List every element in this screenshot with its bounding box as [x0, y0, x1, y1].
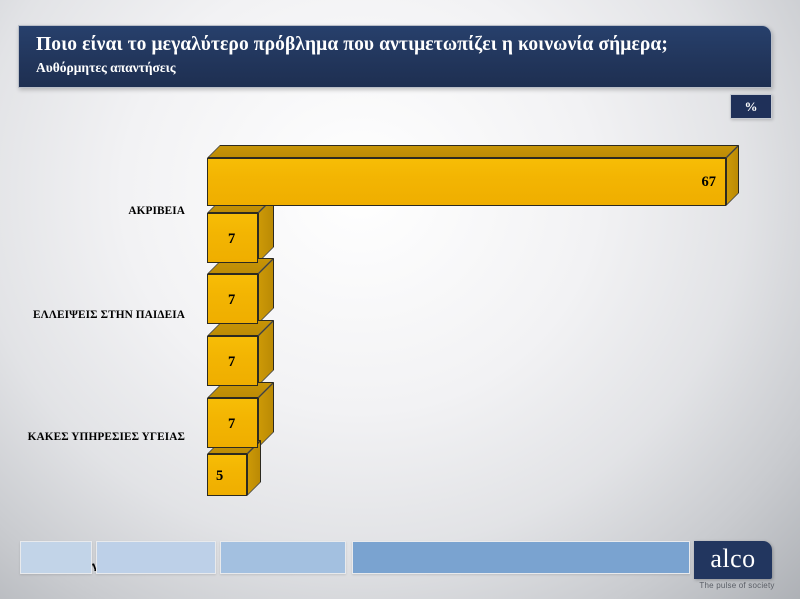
bar-front-face	[207, 158, 726, 206]
chart-row: ΕΓΚΛΗΜΑΤΙΚΟΤΗΤΑ7	[0, 336, 800, 386]
footer-bar-3	[220, 541, 346, 574]
chart-row: ΑΝΕΡΓΙΑ7	[0, 398, 800, 448]
alco-logo-wordmark: alco	[710, 546, 755, 572]
chart-row: ΕΛΛΕΙΨΕΙΣ ΣΤΗΝ ΠΑΙΔΕΙΑ7	[0, 213, 800, 263]
alco-logo-tagline: The pulse of society	[694, 581, 780, 590]
page-title: Ποιο είναι το μεγαλύτερο πρόβλημα που αν…	[36, 33, 771, 57]
bar-value-label: 5	[216, 469, 223, 484]
chart-row: ΚΑΚΕΣ ΥΠΗΡΕΣΙΕΣ ΥΓΕΙΑΣ7	[0, 274, 800, 324]
chart-bar: 7	[207, 398, 258, 448]
page-subtitle: Αυθόρμητες απαντήσεις	[36, 59, 771, 77]
alco-logo: alco	[694, 541, 772, 579]
bar-front-face	[207, 454, 247, 496]
bar-chart: ΑΚΡΙΒΕΙΑ67ΕΛΛΕΙΨΕΙΣ ΣΤΗΝ ΠΑΙΔΕΙΑ7ΚΑΚΕΣ Υ…	[0, 128, 800, 528]
chart-bar: 67	[207, 158, 726, 206]
slide-canvas: Ποιο είναι το μεγαλύτερο πρόβλημα που αν…	[0, 0, 800, 599]
chart-bar: 7	[207, 274, 258, 324]
footer-decoration	[0, 541, 800, 575]
chart-bar: 5	[207, 454, 247, 496]
chart-bar: 7	[207, 213, 258, 263]
slide-title-bar: Ποιο είναι το μεγαλύτερο πρόβλημα που αν…	[18, 25, 772, 88]
chart-row: ΑΛΛΟ5	[0, 454, 800, 496]
bar-value-label: 7	[228, 355, 235, 370]
bar-value-label: 67	[702, 175, 717, 190]
footer-bar-1	[20, 541, 92, 574]
chart-bar: 7	[207, 336, 258, 386]
unit-badge-percent: %	[730, 94, 772, 119]
chart-row: ΑΚΡΙΒΕΙΑ67	[0, 158, 800, 206]
footer-bar-4	[352, 541, 690, 574]
bar-value-label: 7	[228, 293, 235, 308]
footer-bar-2	[96, 541, 216, 574]
bar-value-label: 7	[228, 232, 235, 247]
bar-value-label: 7	[228, 417, 235, 432]
